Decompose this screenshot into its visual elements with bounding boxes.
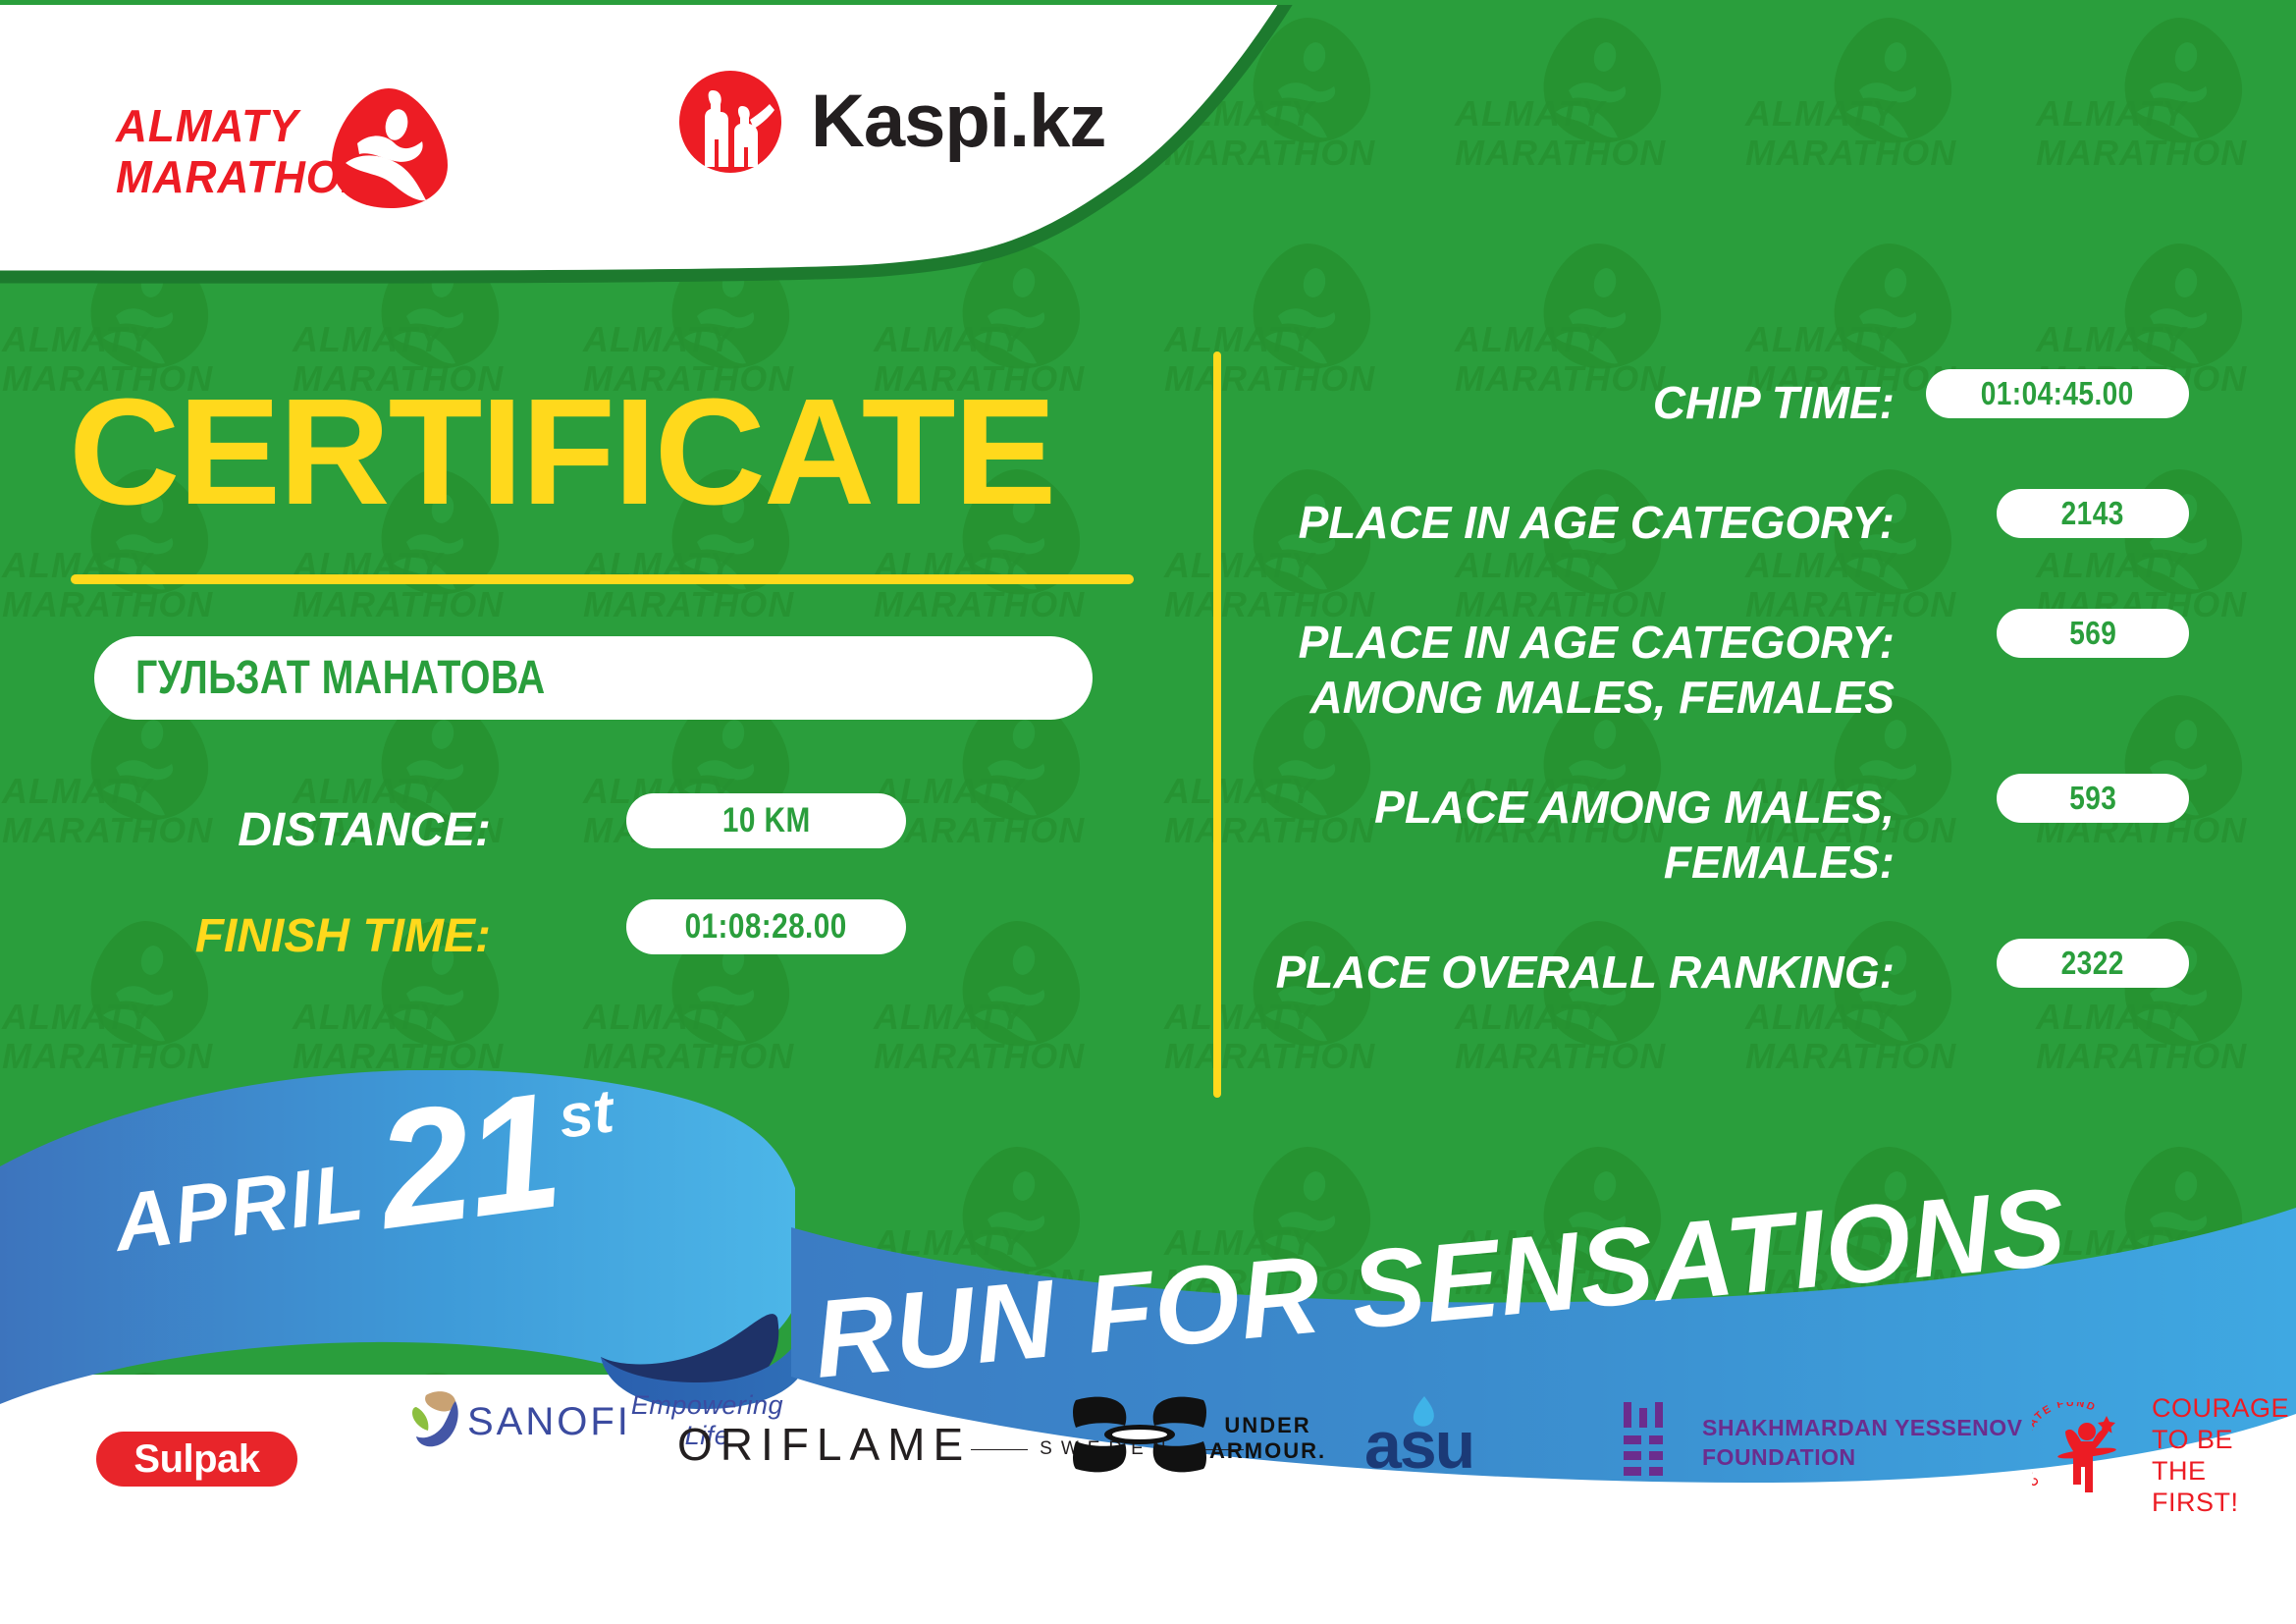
under-armour-icon bbox=[1070, 1396, 1209, 1473]
place-age-category-value-pill: 2143 bbox=[1997, 489, 2189, 538]
athlete-name-field: ГУЛЬЗАТ МАНАТОВА bbox=[94, 636, 1093, 720]
place-age-category-gender-value: 569 bbox=[2069, 615, 2116, 652]
sponsor-strip: Sulpak SANOFI Empowering Life ORIFLAME S… bbox=[0, 1426, 2296, 1593]
distance-value: 10 KM bbox=[722, 801, 811, 840]
courage-line-3: THE FIRST! bbox=[2152, 1455, 2296, 1518]
yessenov-mark-icon bbox=[1620, 1400, 1681, 1484]
place-overall-label: PLACE OVERALL RANKING: bbox=[1168, 945, 1895, 1000]
certificate-canvas: ALMATY MARATHON ALMATY MARATHON bbox=[0, 0, 2296, 1624]
place-among-gender-value: 593 bbox=[2069, 780, 2116, 817]
stat-row-place-age-category-gender: PLACE IN AGE CATEGORY: AMONG MALES, FEMA… bbox=[1276, 615, 2189, 762]
kaspi-wordmark: Kaspi.kz bbox=[811, 82, 1105, 161]
place-among-gender-value-pill: 593 bbox=[1997, 774, 2189, 823]
stat-row-place-among-gender: PLACE AMONG MALES, FEMALES: 593 bbox=[1276, 780, 2189, 927]
place-among-gender-label: PLACE AMONG MALES, FEMALES: bbox=[1168, 780, 1895, 890]
top-green-hairline bbox=[0, 0, 2296, 5]
yessenov-wordmark: SHAKHMARDAN YESSENOV FOUNDATION bbox=[1702, 1413, 2023, 1472]
under-armour-wordmark: UNDER ARMOUR. bbox=[1209, 1413, 1326, 1464]
label-line-1: PLACE AMONG MALES, bbox=[1168, 780, 1895, 835]
courage-line-2: TO BE bbox=[2152, 1424, 2296, 1455]
place-overall-value: 2322 bbox=[2061, 945, 2124, 982]
sponsor-courage-fund: CORPORATE FUND COURAGE TO BE THE FIRST! bbox=[2032, 1392, 2296, 1518]
finish-time-value-pill: 01:08:28.00 bbox=[626, 899, 906, 954]
label-line-2: FEMALES: bbox=[1168, 835, 1895, 890]
courage-wordmark: COURAGE TO BE THE FIRST! bbox=[2152, 1392, 2296, 1518]
runner-drop-icon bbox=[324, 82, 454, 217]
athlete-name-value: ГУЛЬЗАТ МАНАТОВА bbox=[135, 651, 546, 705]
stat-row-place-age-category: PLACE IN AGE CATEGORY: 2143 bbox=[1276, 495, 2189, 597]
yessenov-line-2: FOUNDATION bbox=[1702, 1442, 2023, 1472]
finish-time-value: 01:08:28.00 bbox=[685, 907, 847, 947]
event-day-suffix: st bbox=[556, 1081, 617, 1149]
oriflame-wordmark: ORIFLAME bbox=[677, 1418, 971, 1471]
sponsor-sanofi: SANOFI Empowering Life bbox=[393, 1388, 618, 1451]
header: ALMATY MARATHON bbox=[0, 0, 1227, 275]
courage-mark-icon: CORPORATE FUND bbox=[2032, 1402, 2138, 1509]
place-age-category-gender-label: PLACE IN AGE CATEGORY: AMONG MALES, FEMA… bbox=[1168, 615, 1895, 725]
stat-row-chip-time: CHIP TIME: 01:04:45.00 bbox=[1276, 375, 2189, 477]
kaspi-logo: Kaspi.kz bbox=[677, 69, 1105, 175]
distance-value-pill: 10 KM bbox=[626, 793, 906, 848]
title-underline bbox=[71, 574, 1134, 584]
sponsor-yessenov-foundation: SHAKHMARDAN YESSENOV FOUNDATION bbox=[1620, 1400, 2023, 1484]
place-age-category-gender-value-pill: 569 bbox=[1997, 609, 2189, 658]
place-overall-value-pill: 2322 bbox=[1997, 939, 2189, 988]
chip-time-value: 01:04:45.00 bbox=[1981, 375, 2134, 412]
courage-line-1: COURAGE bbox=[2152, 1392, 2296, 1424]
stat-row-distance: DISTANCE: 10 KM bbox=[0, 785, 1129, 892]
kaspi-people-icon bbox=[677, 69, 783, 175]
sponsor-under-armour: UNDER ARMOUR. bbox=[1070, 1396, 1286, 1473]
sanofi-mark-icon bbox=[393, 1389, 467, 1450]
place-age-category-label: PLACE IN AGE CATEGORY: bbox=[1168, 495, 1895, 550]
asu-droplet-icon bbox=[1412, 1396, 1437, 1430]
chip-time-value-pill: 01:04:45.00 bbox=[1926, 369, 2189, 418]
label-line-1: PLACE IN AGE CATEGORY: bbox=[1168, 615, 1895, 670]
page-title: CERTIFICATE bbox=[69, 373, 1054, 530]
sponsor-sulpak: Sulpak bbox=[96, 1432, 297, 1487]
stat-row-place-overall: PLACE OVERALL RANKING: 2322 bbox=[1276, 945, 2189, 1047]
label-line-2: AMONG MALES, FEMALES bbox=[1168, 670, 1895, 725]
place-age-category-value: 2143 bbox=[2061, 495, 2124, 532]
finish-time-label: FINISH TIME: bbox=[195, 909, 491, 963]
almaty-marathon-logo: ALMATY MARATHON bbox=[116, 61, 440, 208]
distance-label: DISTANCE: bbox=[238, 803, 491, 857]
chip-time-label: CHIP TIME: bbox=[1168, 375, 1895, 430]
right-stats-group: CHIP TIME: 01:04:45.00 PLACE IN AGE CATE… bbox=[1276, 375, 2189, 1064]
yessenov-line-1: SHAKHMARDAN YESSENOV bbox=[1702, 1413, 2023, 1442]
rule-left bbox=[971, 1449, 1028, 1450]
sanofi-wordmark: SANOFI bbox=[467, 1400, 631, 1444]
event-day: 21 bbox=[370, 1076, 565, 1245]
stat-row-finish-time: FINISH TIME: 01:08:28.00 bbox=[0, 892, 1129, 998]
left-stats-group: DISTANCE: 10 KM FINISH TIME: 01:08:28.00 bbox=[0, 785, 1129, 998]
sponsor-oriflame: ORIFLAME SWEDEN bbox=[677, 1418, 972, 1471]
sponsor-asu: asu bbox=[1364, 1412, 1473, 1479]
